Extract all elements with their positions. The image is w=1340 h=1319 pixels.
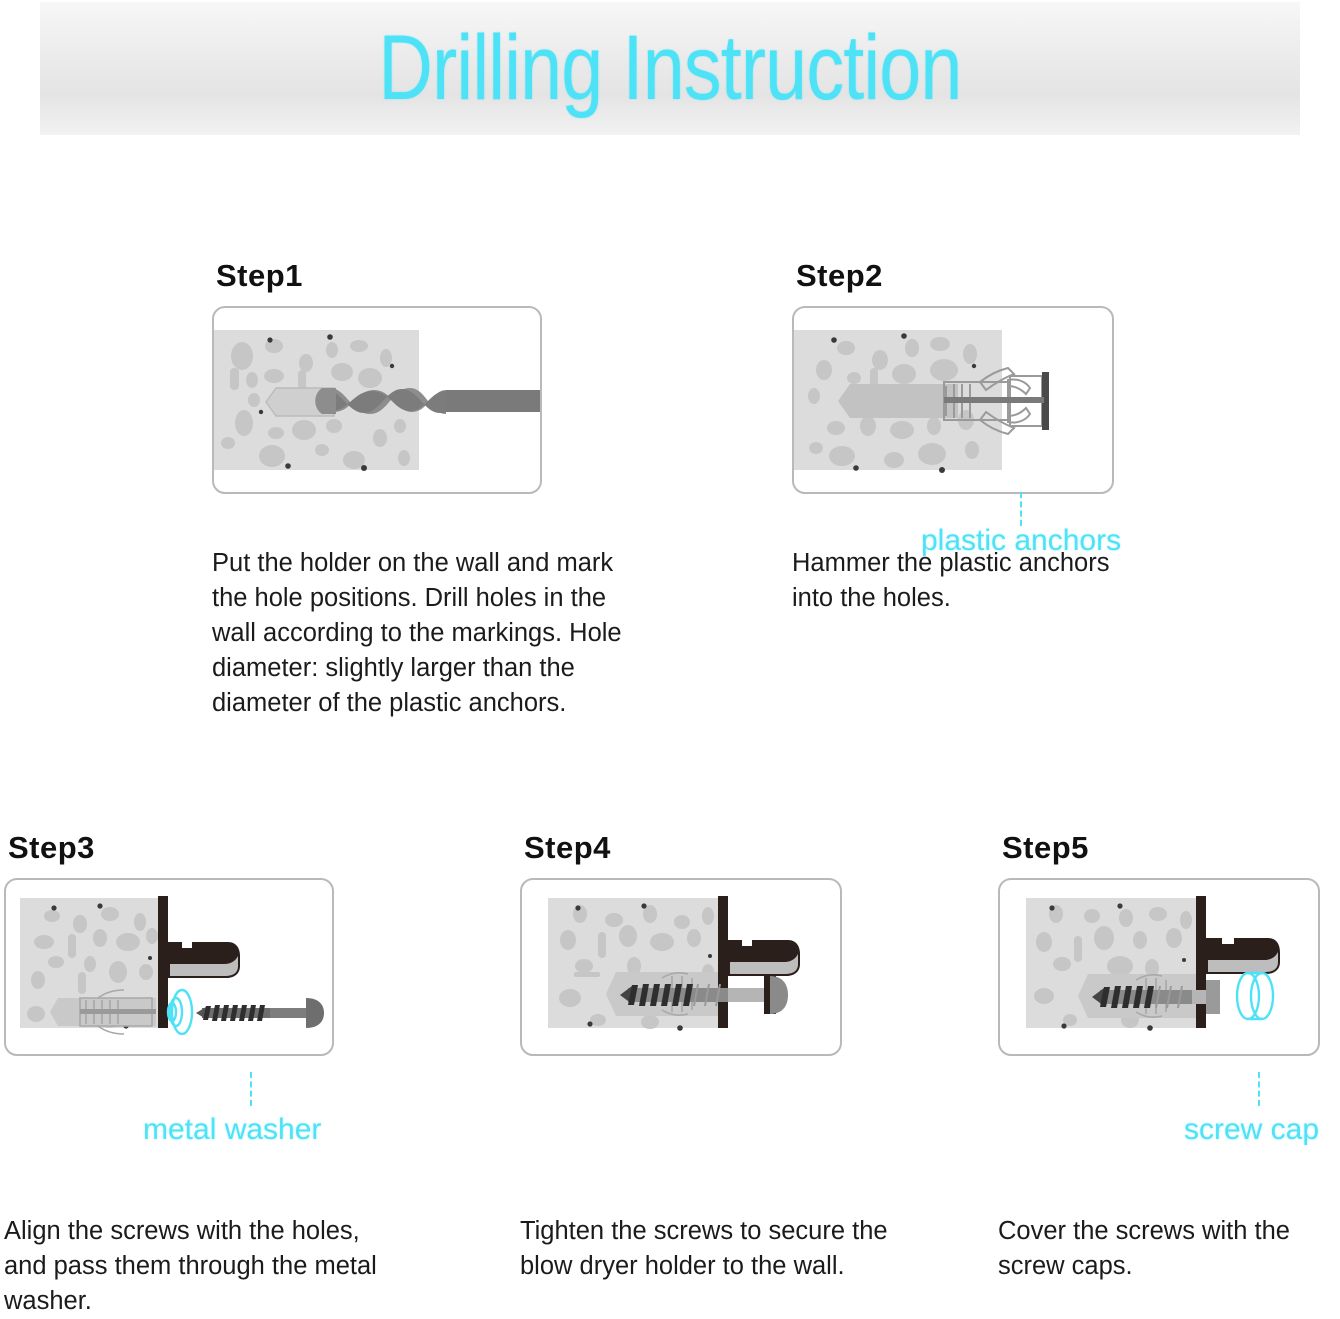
step-5-description: Cover the screws with the screw caps. — [998, 1214, 1298, 1284]
screw-cap-leader-line — [1258, 1072, 1260, 1106]
callout-plastic-anchors: plastic anchors — [921, 524, 1121, 558]
metal-washer-leader-line — [250, 1072, 252, 1106]
step-4-illustration — [520, 878, 842, 1056]
step-4: Step4 — [520, 830, 900, 1284]
callout-screw-cap: screw cap — [1184, 1113, 1319, 1147]
step-5: Step5 — [998, 830, 1320, 1284]
step-2-illustration — [792, 306, 1114, 494]
step-1-description: Put the holder on the wall and mark the … — [212, 546, 642, 721]
callout-metal-washer: metal washer — [143, 1113, 321, 1147]
step-3-illustration — [4, 878, 334, 1056]
step-2: Step2 — [792, 258, 1132, 616]
step-4-description: Tighten the screws to secure the blow dr… — [520, 1214, 900, 1284]
step-2-label: Step2 — [796, 258, 1132, 294]
step-1-illustration — [212, 306, 542, 494]
screw-washer-and-holder-bracket-svg — [6, 880, 332, 1054]
title-banner: Drilling Instruction — [40, 2, 1300, 135]
drill-bit-into-concrete-wall-svg — [214, 308, 540, 492]
step-3-description: Align the screws with the holes, and pas… — [4, 1214, 404, 1319]
step-5-illustration — [998, 878, 1320, 1056]
plastic-anchors-leader-line — [1020, 492, 1022, 526]
step-5-label: Step5 — [1002, 830, 1320, 866]
plastic-anchor-into-hole-svg — [794, 308, 1112, 492]
step-1-label: Step1 — [216, 258, 642, 294]
step-3-label: Step3 — [8, 830, 404, 866]
screw-tightened-into-anchor-svg — [522, 880, 840, 1054]
screw-cap-over-screw-head-svg — [1000, 880, 1318, 1054]
step-4-label: Step4 — [524, 830, 900, 866]
step-3: Step3 — [4, 830, 404, 1319]
page-title: Drilling Instruction — [153, 2, 1186, 135]
step-1: Step1 — [212, 258, 642, 721]
